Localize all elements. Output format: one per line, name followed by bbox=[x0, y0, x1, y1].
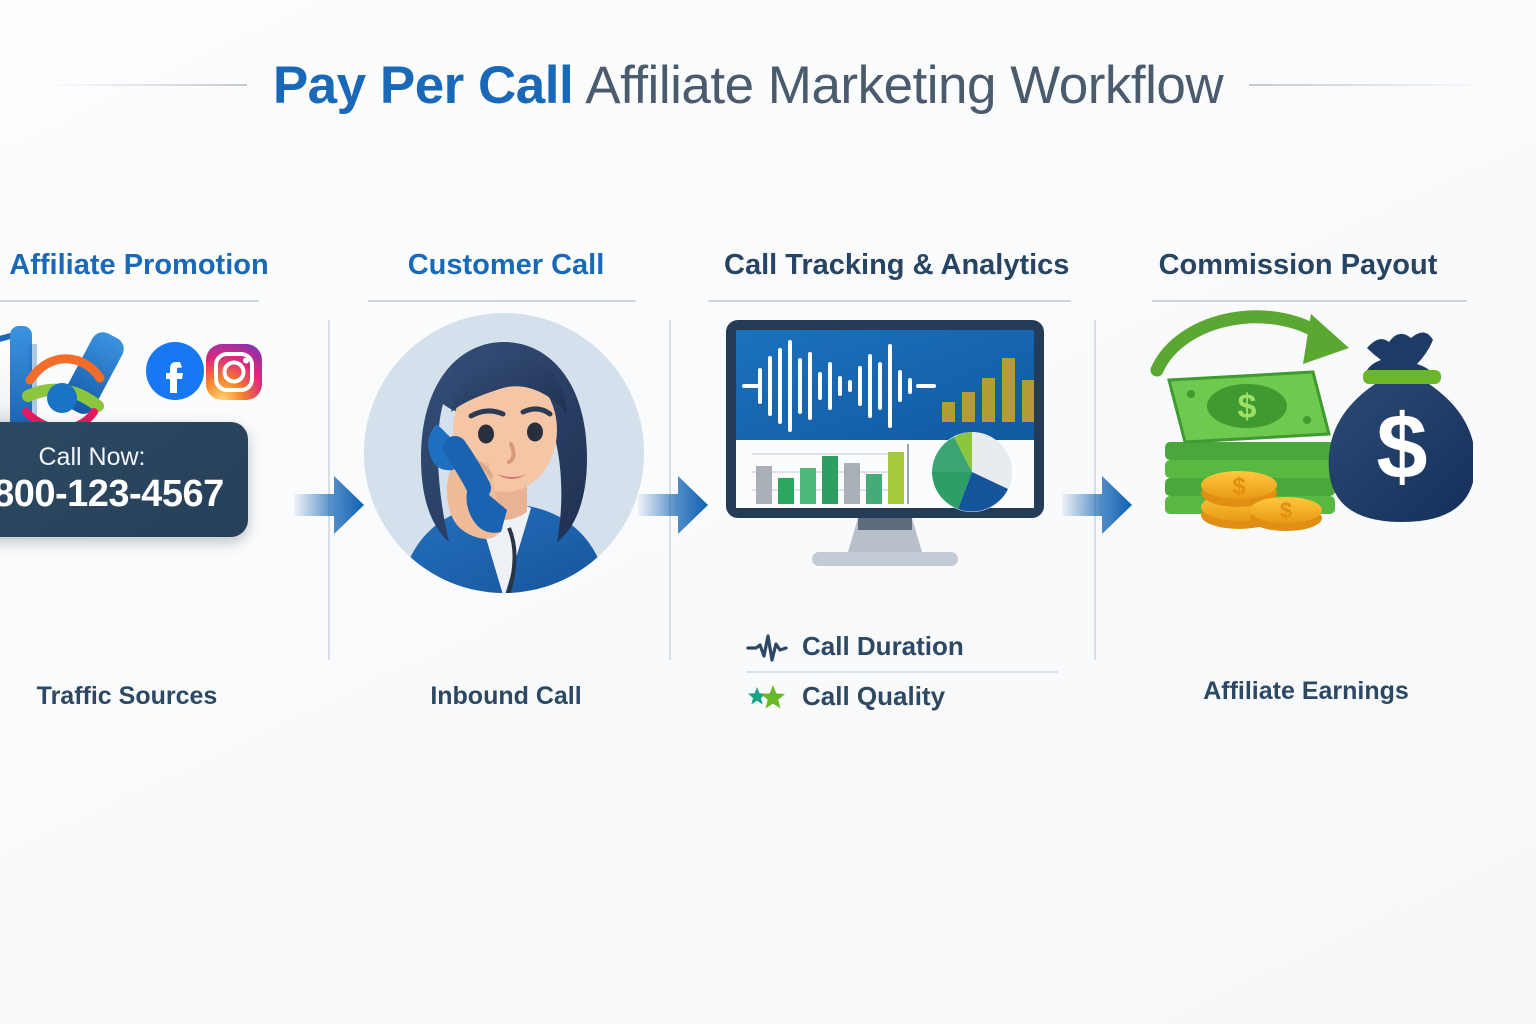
call-now-callout: Call Now: 1-800-123-4567 bbox=[0, 422, 248, 537]
step-affiliate-promotion: Affiliate Promotion bbox=[0, 250, 304, 770]
page-title-strong: Pay Per Call bbox=[273, 56, 573, 115]
page-title-bar: Pay Per CallAffiliate Marketing Workflow bbox=[0, 45, 1536, 125]
step-4-heading: Commission Payout bbox=[1133, 250, 1463, 282]
stars-icon bbox=[746, 682, 788, 712]
step-commission-payout: Commission Payout bbox=[1133, 250, 1463, 770]
title-rule-left bbox=[47, 84, 247, 86]
step-3-heading: Call Tracking & Analytics bbox=[724, 250, 1054, 282]
call-now-label: Call Now: bbox=[39, 445, 146, 470]
desktop-monitor-dashboard bbox=[720, 316, 1050, 606]
svg-text:$: $ bbox=[1232, 473, 1246, 500]
step-customer-call: Customer Call bbox=[341, 250, 671, 770]
step-1-heading: Affiliate Promotion bbox=[0, 250, 304, 282]
step-3-artwork bbox=[724, 302, 1054, 592]
title-rule-right bbox=[1249, 84, 1489, 86]
metrics-list: Call Duration Call Quality bbox=[746, 622, 1058, 720]
step-2-artwork bbox=[341, 302, 671, 592]
step-1-caption: Traffic Sources bbox=[0, 682, 304, 711]
step-call-tracking-analytics: Call Tracking & Analytics bbox=[724, 250, 1054, 770]
payout-illustration: $ $ $ bbox=[1143, 310, 1473, 560]
step-2-heading: Customer Call bbox=[341, 250, 671, 282]
svg-text:$: $ bbox=[1238, 388, 1257, 426]
metric-call-quality: Call Quality bbox=[746, 671, 1058, 720]
metric-call-duration: Call Duration bbox=[746, 622, 1058, 671]
step-4-caption: Affiliate Earnings bbox=[1149, 677, 1463, 706]
waveform-icon bbox=[746, 632, 788, 662]
page-title: Pay Per CallAffiliate Marketing Workflow bbox=[273, 59, 1223, 112]
step-1-artwork: Call Now: 1-800-123-4567 bbox=[0, 302, 304, 592]
instagram-icon bbox=[206, 344, 262, 400]
svg-text:$: $ bbox=[1376, 396, 1427, 498]
step-2-caption: Inbound Call bbox=[341, 682, 671, 711]
curved-arrow-icon bbox=[1157, 317, 1329, 370]
money-bag-icon: $ bbox=[1329, 332, 1473, 522]
facebook-icon bbox=[146, 342, 204, 400]
workflow-steps: Affiliate Promotion bbox=[0, 250, 1536, 770]
woman-on-phone-illustration bbox=[359, 308, 649, 598]
metric-call-quality-label: Call Quality bbox=[802, 681, 945, 712]
metric-call-duration-label: Call Duration bbox=[802, 631, 964, 662]
step-4-artwork: $ $ $ bbox=[1133, 302, 1463, 592]
page-title-rest: Affiliate Marketing Workflow bbox=[585, 56, 1223, 115]
phone-number: 1-800-123-4567 bbox=[0, 475, 224, 513]
svg-text:$: $ bbox=[1280, 498, 1292, 523]
